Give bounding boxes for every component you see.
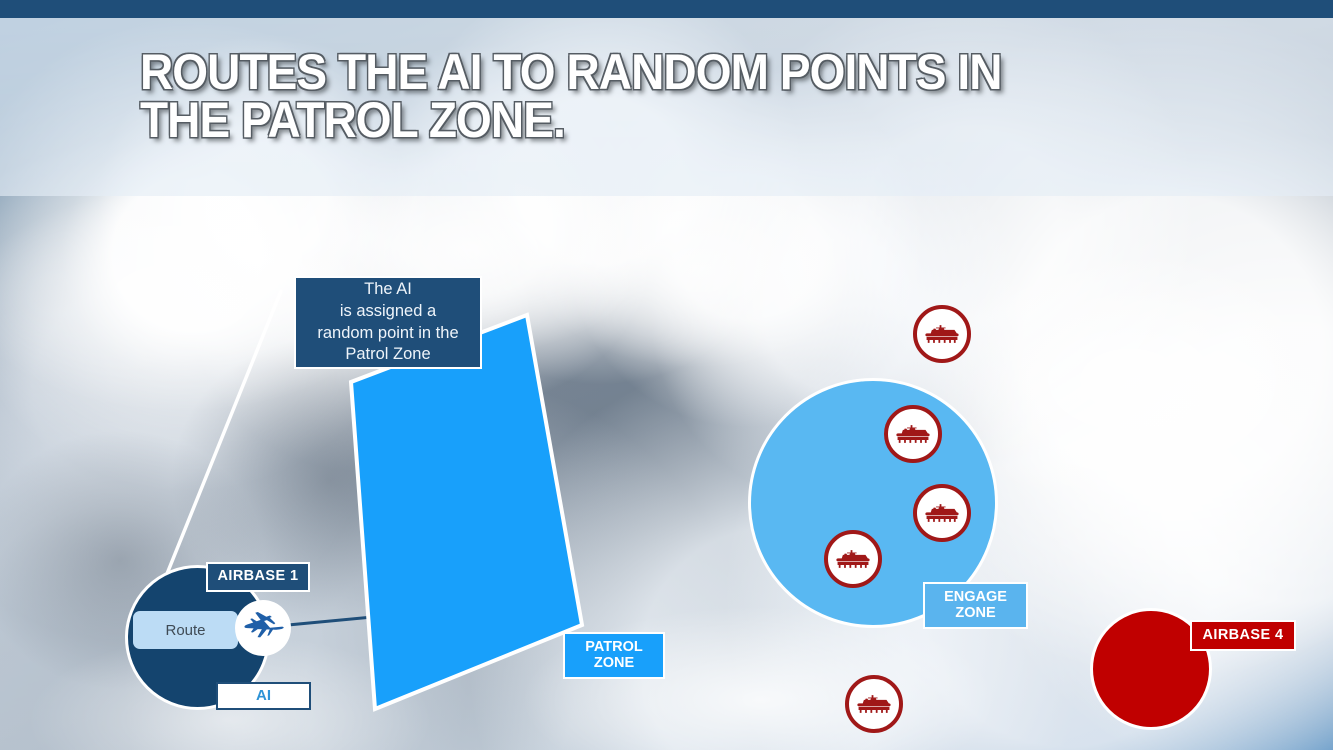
page-title-line-1: ROUTES THE AI TO RANDOM POINTS IN <box>140 48 1115 96</box>
callout-line-3: random point in the <box>317 323 458 345</box>
route-chip[interactable]: Route <box>133 611 238 649</box>
top-accent-bar <box>0 0 1333 18</box>
enemy-unit-south[interactable] <box>845 675 903 733</box>
callout-line-1: The AI <box>364 279 412 301</box>
engage-zone-label-line-2: ZONE <box>955 606 995 622</box>
slide-canvas: ROUTES THE AI TO RANDOM POINTS IN THE PA… <box>0 0 1333 750</box>
callout-line-2: is assigned a <box>340 301 436 323</box>
engage-zone-label[interactable]: ENGAGE ZONE <box>923 582 1028 629</box>
armored-vehicle-icon <box>917 488 967 538</box>
armored-vehicle-icon <box>828 534 878 584</box>
fighter-jet-icon[interactable] <box>235 600 291 656</box>
engage-zone-label-line-1: ENGAGE <box>944 590 1007 606</box>
armored-vehicle-icon <box>888 409 938 459</box>
patrol-zone-label[interactable]: PATROL ZONE <box>563 632 665 679</box>
armored-vehicle-icon <box>917 309 967 359</box>
callout-line-4: Patrol Zone <box>345 344 430 366</box>
patrol-zone-label-line-2: ZONE <box>594 656 634 672</box>
ai-label[interactable]: AI <box>216 682 311 710</box>
armored-vehicle-icon <box>849 679 899 729</box>
page-title-line-2: THE PATROL ZONE. <box>140 96 1115 144</box>
airbase-4-label[interactable]: AIRBASE 4 <box>1190 620 1296 651</box>
enemy-unit-engage-1[interactable] <box>884 405 942 463</box>
enemy-unit-engage-3[interactable] <box>824 530 882 588</box>
patrol-zone-label-line-1: PATROL <box>585 640 642 656</box>
enemy-unit-engage-2[interactable] <box>913 484 971 542</box>
callout-box[interactable]: The AI is assigned a random point in the… <box>294 276 482 369</box>
enemy-unit-north[interactable] <box>913 305 971 363</box>
airbase-1-label[interactable]: AIRBASE 1 <box>206 562 310 592</box>
page-title: ROUTES THE AI TO RANDOM POINTS IN THE PA… <box>140 48 1115 144</box>
